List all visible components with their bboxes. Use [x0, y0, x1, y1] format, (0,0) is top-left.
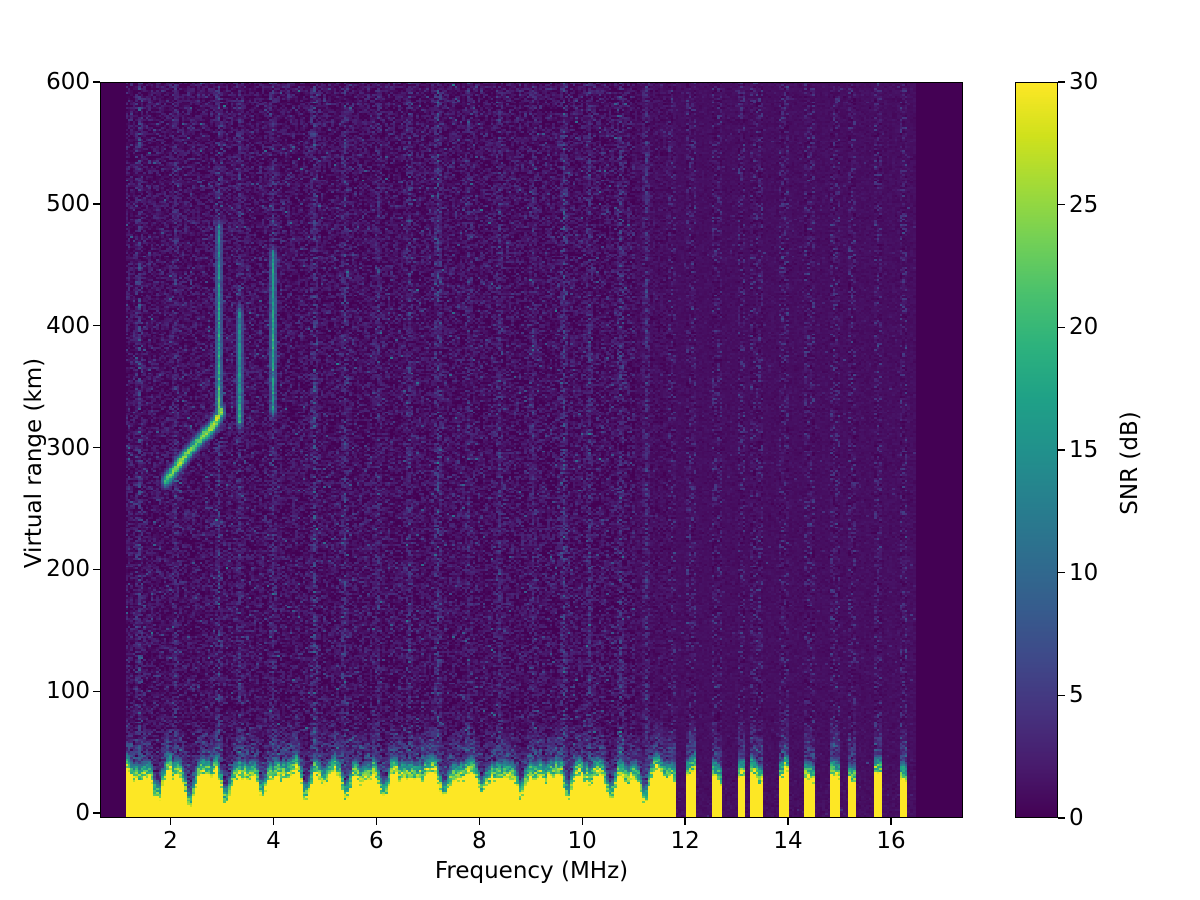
- x-tick-14: [787, 818, 788, 825]
- ionogram-heatmap-canvas[interactable]: [101, 83, 963, 818]
- colorbar-ticklabel-5: 5: [1069, 682, 1084, 708]
- ionogram-figure: IRF Kiruna Ionosonde KI167 2025-12-25 18…: [0, 0, 1200, 900]
- x-ticklabel-10: 10: [568, 828, 597, 854]
- x-ticklabel-6: 6: [369, 828, 384, 854]
- y-tick-300: [93, 447, 100, 448]
- x-ticklabel-8: 8: [472, 828, 487, 854]
- x-tick-8: [479, 818, 480, 825]
- y-tick-400: [93, 325, 100, 326]
- ionogram-plot-area[interactable]: [100, 82, 963, 818]
- colorbar-label: SNR (dB): [1117, 333, 1143, 593]
- colorbar-tick-20: [1058, 327, 1065, 328]
- x-ticklabel-4: 4: [266, 828, 281, 854]
- x-tick-10: [582, 818, 583, 825]
- y-ticklabel-400: 400: [46, 313, 90, 339]
- colorbar-tick-5: [1058, 695, 1065, 696]
- y-tick-500: [93, 203, 100, 204]
- y-ticklabel-0: 0: [75, 800, 90, 826]
- colorbar-tick-10: [1058, 572, 1065, 573]
- x-ticklabel-14: 14: [773, 828, 802, 854]
- colorbar-tick-30: [1058, 81, 1065, 82]
- y-tick-0: [93, 812, 100, 813]
- y-tick-600: [93, 81, 100, 82]
- colorbar-gradient: [1016, 83, 1058, 818]
- x-ticklabel-16: 16: [876, 828, 905, 854]
- colorbar-tick-15: [1058, 449, 1065, 450]
- colorbar-ticklabel-10: 10: [1069, 560, 1098, 586]
- colorbar-ticklabel-20: 20: [1069, 314, 1098, 340]
- x-tick-6: [376, 818, 377, 825]
- colorbar-ticklabel-30: 30: [1069, 69, 1098, 95]
- x-axis-label: Frequency (MHz): [100, 858, 963, 884]
- colorbar-tick-25: [1058, 204, 1065, 205]
- x-ticklabel-12: 12: [670, 828, 699, 854]
- colorbar-tick-0: [1058, 817, 1065, 818]
- x-tick-4: [273, 818, 274, 825]
- x-ticklabel-2: 2: [163, 828, 178, 854]
- y-tick-200: [93, 569, 100, 570]
- y-ticklabel-500: 500: [46, 191, 90, 217]
- y-ticklabel-600: 600: [46, 69, 90, 95]
- y-axis-label: Virtual range (km): [21, 333, 47, 593]
- x-tick-16: [890, 818, 891, 825]
- y-ticklabel-100: 100: [46, 678, 90, 704]
- colorbar-ticklabel-25: 25: [1069, 192, 1098, 218]
- x-tick-2: [170, 818, 171, 825]
- colorbar-ticklabel-0: 0: [1069, 805, 1084, 831]
- x-tick-12: [684, 818, 685, 825]
- colorbar[interactable]: [1015, 82, 1058, 818]
- y-tick-100: [93, 691, 100, 692]
- y-ticklabel-300: 300: [46, 435, 90, 461]
- y-ticklabel-200: 200: [46, 556, 90, 582]
- colorbar-ticklabel-15: 15: [1069, 437, 1098, 463]
